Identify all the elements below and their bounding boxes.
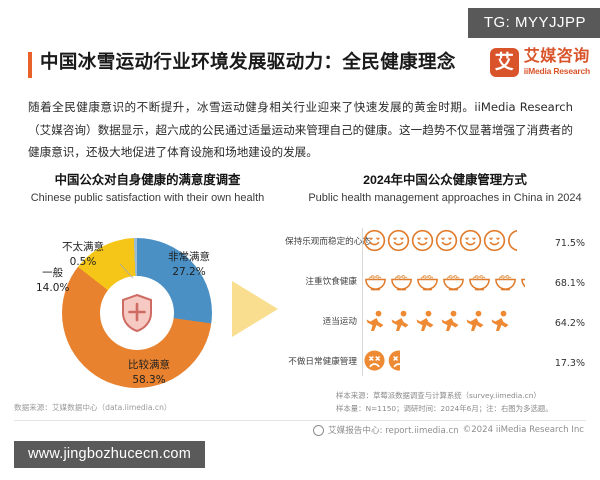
sad-face-icon — [363, 349, 386, 377]
logo-name-cn: 艾媒咨询 — [524, 49, 590, 65]
pictogram-row-exercise: 适当运动 64.2% — [285, 308, 585, 338]
donut-label-text: 一般 — [42, 267, 63, 279]
pictogram-row-label: 不做日常健康管理 — [285, 358, 363, 368]
running-person-icon — [413, 309, 437, 338]
smiley-face-icon — [411, 229, 434, 257]
pictogram-row-icons — [363, 228, 552, 258]
donut-label-value: 14.0% — [36, 282, 69, 294]
pictogram-row-value: 71.5% — [552, 238, 585, 249]
donut-label-text: 不太满意 — [62, 241, 104, 253]
donut-label-not-satisfied: 不太满意 0.5% — [62, 240, 104, 270]
right-chart-title-cn: 2024年中国公众健康管理方式 — [300, 170, 590, 188]
rice-bowl-icon — [441, 269, 466, 297]
rice-bowl-icon — [467, 269, 492, 297]
left-chart-title-en: Chinese public satisfaction with their o… — [30, 192, 265, 204]
sample-note: 样本来源：草莓派数据调查与计算系统（survey.iimedia.cn） 样本量… — [336, 390, 553, 415]
left-chart-title-cn: 中国公众对自身健康的满意度调查 — [30, 170, 265, 188]
footer-divider — [14, 420, 586, 421]
running-person-icon — [463, 309, 487, 338]
globe-icon — [313, 425, 324, 436]
pictogram-row-value: 68.1% — [552, 278, 585, 289]
donut-label-text: 比较满意 — [128, 359, 170, 371]
copyright-text: ©2024 iiMedia Research Inc — [463, 425, 584, 435]
smiley-face-icon — [435, 229, 458, 257]
tg-watermark-badge: TG: MYYJJPP — [468, 8, 600, 38]
pictogram-row-icons — [363, 268, 552, 298]
pictogram-row-diet: 注重饮食健康 68.1% — [285, 268, 585, 298]
running-person-icon — [388, 309, 412, 338]
pictogram-row-optimism: 保持乐观而稳定的心态 71.5% — [285, 228, 585, 258]
logo-text: 艾媒咨询 iiMedia Research — [524, 49, 590, 76]
rice-bowl-icon — [493, 269, 518, 297]
left-chart-title: 中国公众对自身健康的满意度调查 Chinese public satisfact… — [30, 170, 265, 204]
pictogram-row-label: 适当运动 — [285, 318, 363, 328]
donut-label-fairly-satisfied: 比较满意 58.3% — [128, 358, 170, 388]
running-person-icon — [488, 309, 512, 338]
rice-bowl-icon — [363, 269, 388, 297]
smiley-face-icon-partial — [507, 229, 517, 257]
site-url-watermark: www.jingbozhucecn.com — [14, 441, 205, 468]
sample-size-text: 样本量：N=1150；调研时间：2024年6月；注：右图为多选题。 — [336, 403, 553, 416]
slide-root: TG: MYYJJPP 中国冰雪运动行业环境发展驱动力：全民健康理念 艾 艾媒咨… — [0, 0, 600, 480]
pictogram-row-value: 17.3% — [552, 358, 585, 369]
sample-source-text: 样本来源：草莓派数据调查与计算系统（survey.iimedia.cn） — [336, 390, 553, 403]
rice-bowl-icon-partial — [519, 269, 525, 297]
donut-label-value: 0.5% — [70, 256, 97, 268]
donut-label-value: 58.3% — [132, 374, 165, 386]
logo-mark-icon: 艾 — [490, 48, 519, 77]
pictogram-row-label: 保持乐观而稳定的心态 — [285, 238, 363, 248]
health-management-pictogram-chart: 保持乐观而稳定的心态 71.5% 注重饮食健康 — [285, 228, 585, 376]
slide-header: 中国冰雪运动行业环境发展驱动力：全民健康理念 艾 艾媒咨询 iiMedia Re… — [0, 48, 600, 92]
donut-label-value: 27.2% — [172, 266, 205, 278]
data-source-note: 数据来源：艾媒数据中心（data.iimedia.cn） — [14, 402, 172, 413]
page-title: 中国冰雪运动行业环境发展驱动力：全民健康理念 — [40, 48, 456, 74]
pictogram-row-no-management: 不做日常健康管理 17.3% — [285, 348, 585, 378]
smiley-face-icon — [363, 229, 386, 257]
donut-label-text: 非常满意 — [168, 251, 210, 263]
pictogram-row-value: 64.2% — [552, 318, 585, 329]
health-shield-icon — [120, 293, 154, 333]
pictogram-row-label: 注重饮食健康 — [285, 278, 363, 288]
running-person-icon — [438, 309, 462, 338]
pictogram-row-icons — [363, 308, 552, 338]
donut-center — [100, 276, 174, 350]
smiley-face-icon — [387, 229, 410, 257]
report-center-link[interactable]: 艾媒报告中心: report.iimedia.cn — [328, 424, 459, 436]
iimedia-logo: 艾 艾媒咨询 iiMedia Research — [490, 48, 590, 77]
rice-bowl-icon — [389, 269, 414, 297]
rice-bowl-icon — [415, 269, 440, 297]
title-accent-bar — [28, 52, 32, 78]
sad-face-icon-partial — [387, 349, 400, 377]
donut-leader-line — [119, 263, 141, 281]
smiley-face-icon — [483, 229, 506, 257]
transition-arrow-icon — [232, 281, 278, 337]
intro-paragraph: 随着全民健康意识的不断提升，冰雪运动健身相关行业迎来了快速发展的黄金时期。iiM… — [28, 96, 573, 164]
logo-name-en: iiMedia Research — [524, 67, 590, 76]
pictogram-row-icons — [363, 348, 552, 378]
donut-label-average: 一般 14.0% — [36, 266, 69, 296]
page-footer: 艾媒报告中心: report.iimedia.cn ©2024 iiMedia … — [313, 424, 584, 436]
right-chart-title-en: Public health management approaches in C… — [300, 192, 590, 204]
smiley-face-icon — [459, 229, 482, 257]
running-person-icon — [363, 309, 387, 338]
donut-label-very-satisfied: 非常满意 27.2% — [168, 250, 210, 280]
right-chart-title: 2024年中国公众健康管理方式 Public health management… — [300, 170, 590, 204]
